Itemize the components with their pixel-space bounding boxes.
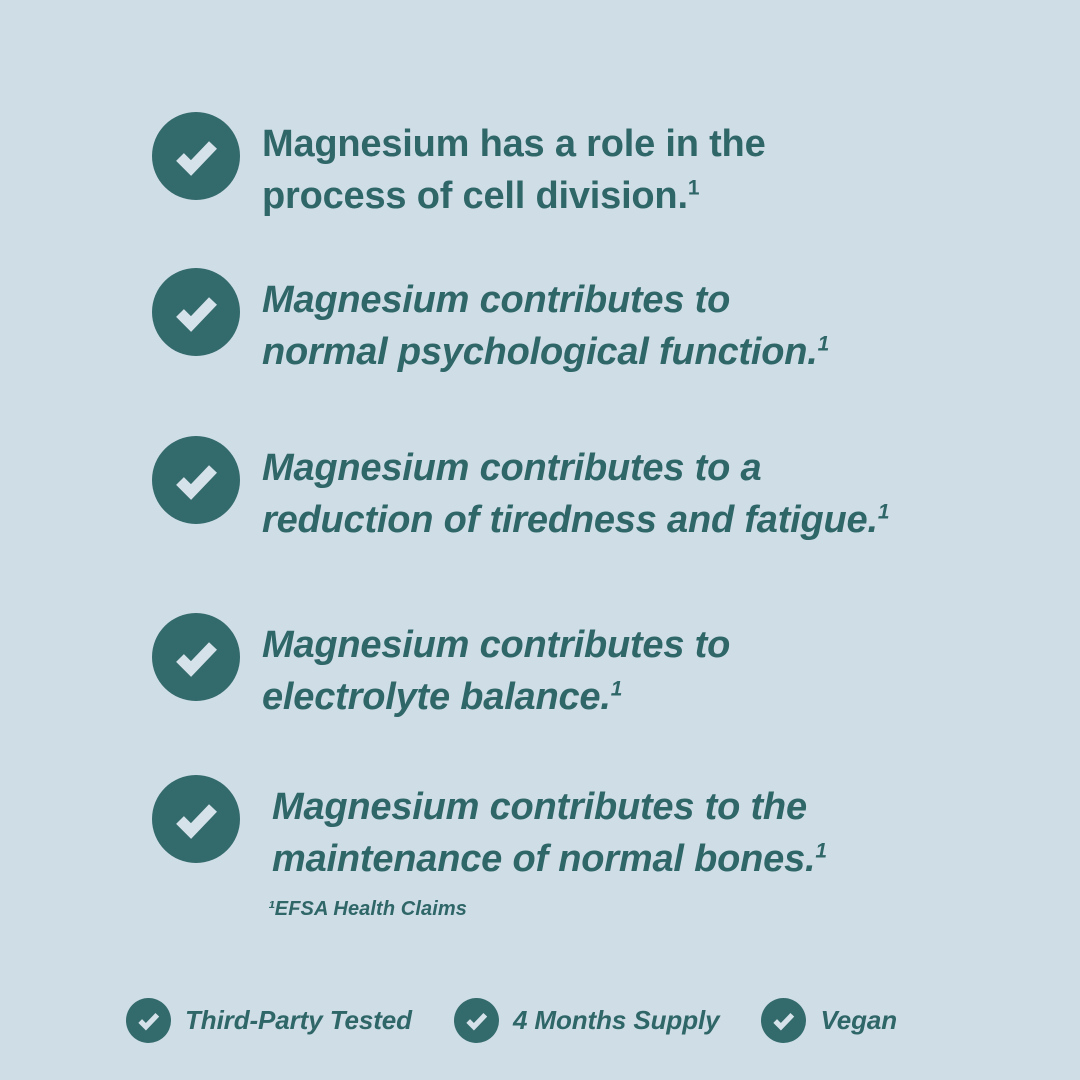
badge-label: Vegan [820,1005,897,1036]
claim-superscript: 1 [688,176,699,199]
claim-text-body: Magnesium contributes to the maintenance… [272,786,815,880]
claim-superscript: 1 [818,332,829,355]
claim-superscript: 1 [878,500,889,523]
claim-item: Magnesium contributes to electrolyte bal… [152,613,730,723]
claim-superscript: 1 [815,839,826,862]
claim-text-body: Magnesium contributes to electrolyte bal… [262,624,730,718]
claim-superscript: 1 [611,677,622,700]
claim-text-body: Magnesium contributes to a reduction of … [262,447,878,541]
check-circle-icon [454,998,499,1043]
claim-text-body: Magnesium contributes to normal psycholo… [262,279,818,373]
check-circle-icon [761,998,806,1043]
check-circle-icon [152,268,240,356]
badge-row: Third-Party Tested 4 Months Supply Vegan [126,998,897,1043]
badge-label: 4 Months Supply [513,1005,720,1036]
check-circle-icon [152,775,240,863]
claim-text: Magnesium contributes to a reduction of … [262,442,889,546]
product-claims-card: Magnesium has a role in the process of c… [0,0,1080,1080]
badge-months-supply: 4 Months Supply [454,998,720,1043]
claim-text-body: Magnesium has a role in the process of c… [262,123,766,217]
claim-item: Magnesium contributes to normal psycholo… [152,268,829,378]
claim-text: Magnesium contributes to the maintenance… [272,781,827,885]
claim-text: Magnesium contributes to normal psycholo… [262,274,829,378]
check-circle-icon [152,436,240,524]
check-circle-icon [126,998,171,1043]
badge-vegan: Vegan [761,998,897,1043]
check-circle-icon [152,613,240,701]
claim-item: Magnesium contributes to a reduction of … [152,436,889,546]
footnote-efsa: ¹EFSA Health Claims [268,898,467,921]
claim-item: Magnesium contributes to the maintenance… [152,775,827,885]
claim-text: Magnesium has a role in the process of c… [262,118,766,222]
claim-item: Magnesium has a role in the process of c… [152,112,766,222]
claim-text: Magnesium contributes to electrolyte bal… [262,619,730,723]
badge-label: Third-Party Tested [185,1005,412,1036]
check-circle-icon [152,112,240,200]
badge-third-party-tested: Third-Party Tested [126,998,412,1043]
